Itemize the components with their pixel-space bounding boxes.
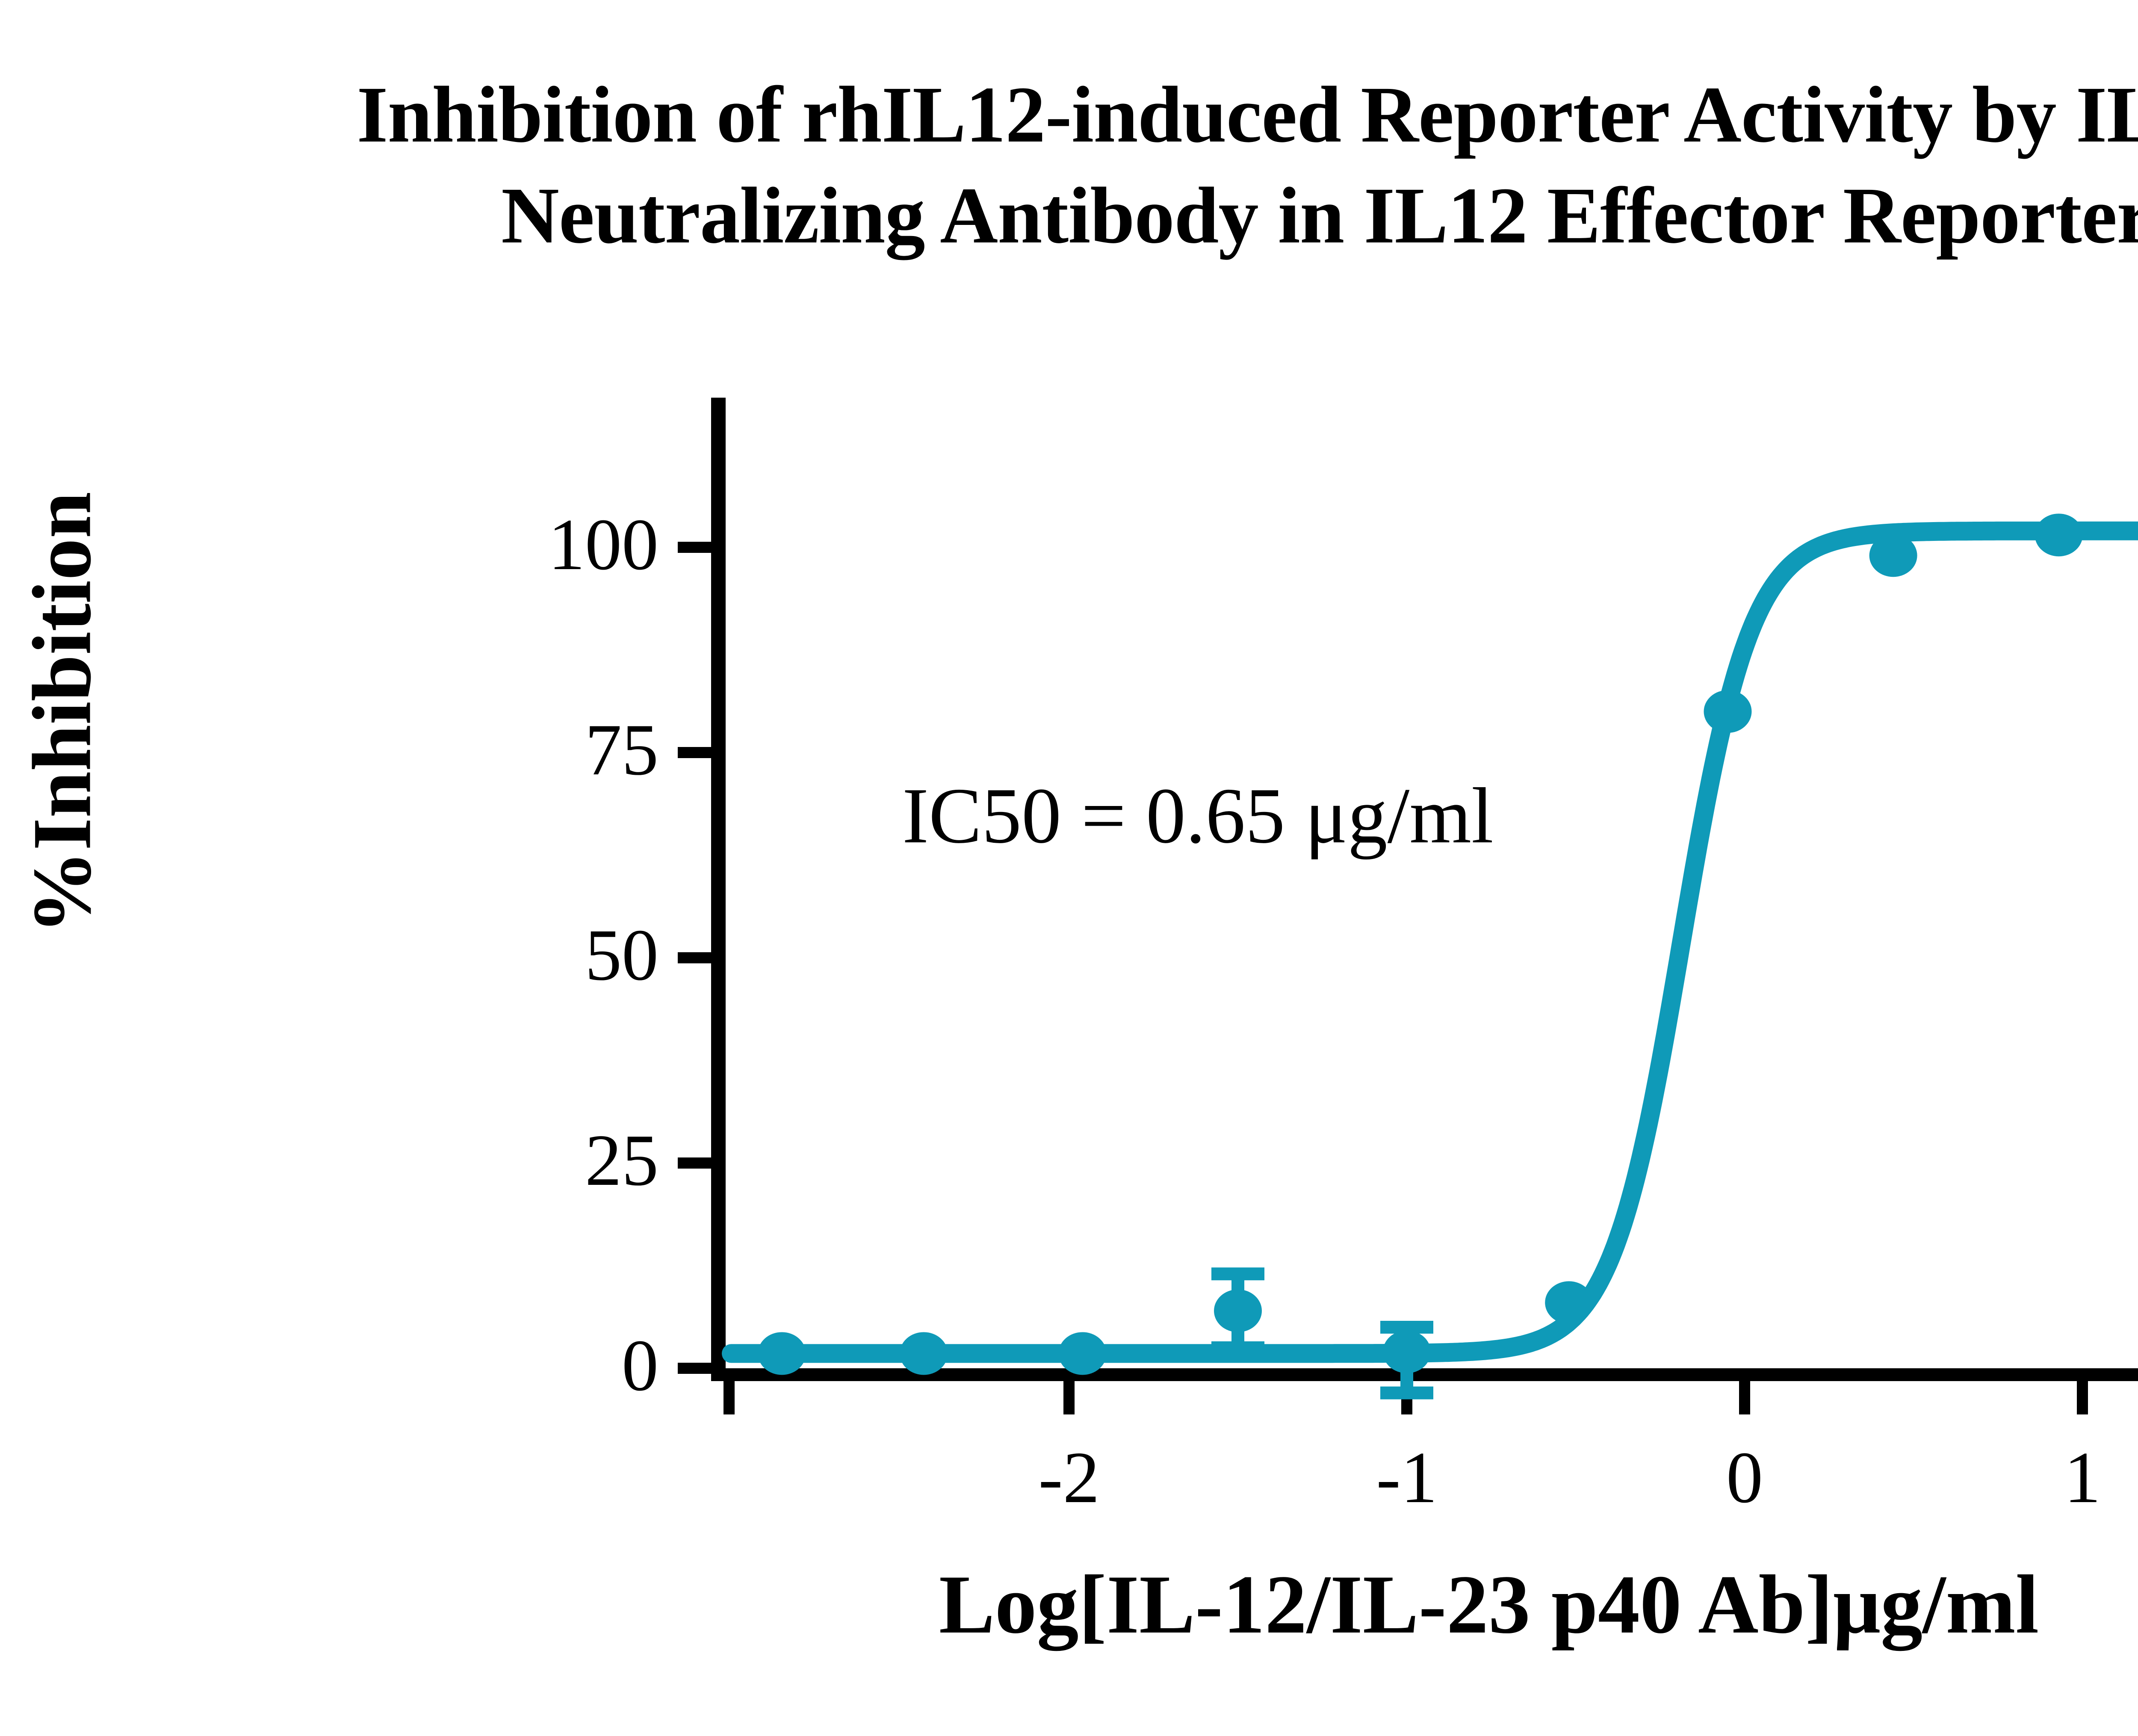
data-point-marker [1545, 1281, 1593, 1324]
x-tick--2 [1063, 1380, 1075, 1414]
data-point-marker [1383, 1331, 1431, 1373]
fit-curve [731, 531, 2138, 1354]
x-tick-0 [1739, 1380, 1750, 1414]
data-point-marker [1214, 1290, 1262, 1332]
x-tick-label-1: 1 [1997, 1441, 2138, 1515]
x-tick--1 [1401, 1380, 1412, 1414]
y-tick-label-0: 0 [436, 1329, 659, 1402]
y-tick-100 [678, 542, 711, 553]
data-point-markers [758, 510, 2138, 1375]
y-tick-label-25: 25 [436, 1124, 659, 1197]
y-tick-50 [678, 952, 711, 963]
x-tick-1 [2077, 1380, 2088, 1414]
x-axis-spine [711, 1368, 2138, 1381]
x-tick-label--1: -1 [1321, 1441, 1492, 1515]
y-tick-25 [678, 1157, 711, 1169]
y-tick-0 [678, 1363, 711, 1374]
x-axis-title: Log[IL-12/IL-23 p40 Ab]μg/ml [0, 1556, 2138, 1653]
y-axis-title: %Inhibition [14, 414, 110, 1013]
data-point-marker [1704, 690, 1752, 733]
x-tick-label--2: -2 [983, 1441, 1155, 1515]
chart-figure: Inhibition of rhIL12-induced Reporter Ac… [0, 0, 2138, 1736]
y-tick-label-100: 100 [436, 508, 659, 582]
fit-curve-group [731, 531, 2138, 1354]
ic50-annotation: IC50 = 0.65 μg/ml [902, 773, 1494, 859]
chart-title-line-2: Neutralizing Antibody in IL12 Effector R… [0, 165, 2138, 266]
x-tick-label-0: 0 [1659, 1441, 1830, 1515]
y-tick-label-75: 75 [436, 713, 659, 787]
y-axis-spine [711, 398, 726, 1373]
chart-title-line-1: Inhibition of rhIL12-induced Reporter Ac… [0, 64, 2138, 165]
data-point-marker [1869, 534, 1917, 577]
x-tick-minor-left [723, 1380, 735, 1414]
y-tick-75 [678, 747, 711, 758]
data-point-marker [2035, 514, 2083, 556]
y-tick-label-50: 50 [436, 918, 659, 992]
chart-title: Inhibition of rhIL12-induced Reporter Ac… [0, 64, 2138, 266]
